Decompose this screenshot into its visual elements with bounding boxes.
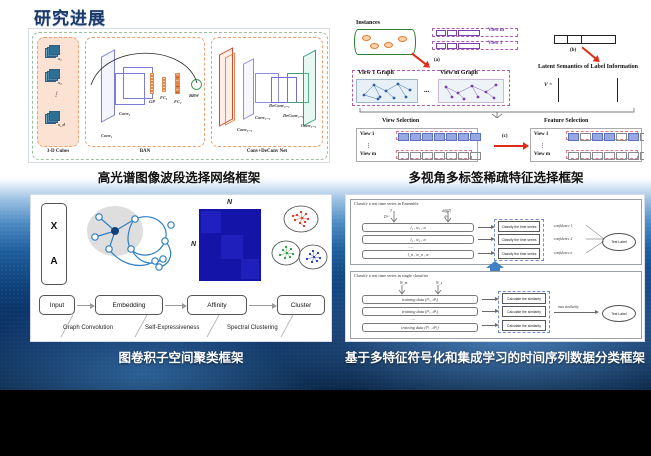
fig1-section-label: BAN bbox=[85, 149, 205, 154]
fig1-section-label: Conv+DeConv Net bbox=[211, 149, 323, 154]
fig2-selection-row-label: View m bbox=[534, 152, 550, 157]
fig4-training-row: training data (lᴺᵢ , dᴺᵢ) bbox=[362, 323, 478, 332]
fig2-selection-title: View Selection bbox=[382, 118, 419, 124]
fig1-conv2-label: Conv₂ bbox=[119, 111, 130, 116]
fig3-affinity-blocks bbox=[199, 209, 261, 281]
fig2-graph-title: View 1 Graph bbox=[358, 70, 394, 76]
fig4-ensemble-row: l_n , w_n , α bbox=[362, 250, 474, 259]
fig4-arrow-train-to-sim bbox=[482, 325, 496, 326]
fig4-confidence: confidence 2 bbox=[554, 237, 572, 241]
fig1-input-label: x₂ bbox=[58, 80, 62, 85]
fig1-section-label: 3-D Cubes bbox=[37, 149, 79, 154]
fig4-ensemble-row: l₂ , w₂ , α bbox=[362, 235, 474, 244]
page-title: 研究进展 bbox=[34, 4, 106, 29]
fig2-feature-cell bbox=[458, 30, 480, 36]
fig3-arrow-1 bbox=[77, 305, 91, 306]
fig2-cells-row-unselected bbox=[398, 152, 481, 160]
figure-1-caption: 高光谱图像波段选择网络框架 bbox=[28, 170, 330, 185]
fig3-input-matrix-box: X A bbox=[41, 203, 67, 285]
fig4-classifier: Classify the time series bbox=[498, 221, 540, 232]
fig3-cluster-illustration bbox=[271, 203, 329, 285]
fig4-arrow-row-to-classifier bbox=[478, 239, 492, 240]
fig2-instance-dot bbox=[362, 35, 371, 41]
fig1-brw-label: BRW bbox=[189, 93, 199, 98]
fig1-dec1-label: DeConv₃₋₁ bbox=[283, 113, 304, 119]
fig4-confidence-leaders bbox=[586, 223, 608, 257]
fig4-training-row: training data (l²ᵢ , d²ᵢ) bbox=[362, 307, 478, 316]
fig2-selection-row-label: View 1 bbox=[534, 132, 548, 137]
fig3-stage-input[interactable]: Input bbox=[39, 295, 75, 315]
fig4-similarity-calculator: Calculate the similarity bbox=[502, 306, 546, 317]
figure-graphconv-panel: X A bbox=[30, 194, 332, 342]
fig1-hsi-plate-orange bbox=[225, 52, 235, 125]
fig4-training-row: training data (l¹ᵢ , d¹ᵢ) bbox=[362, 295, 478, 304]
fig1-input-cube bbox=[45, 111, 58, 122]
fig1-conv1-label: Conv₁ bbox=[101, 133, 112, 138]
fig2-selection-title: Feature Selection bbox=[544, 118, 588, 124]
fig2-merge-bracket bbox=[358, 106, 638, 118]
fig3-arrow-3 bbox=[249, 305, 273, 306]
fig4-classifier: Classify the time series bbox=[498, 234, 540, 245]
figure-timeseries-panel: Classify a test time series in Ensemble … bbox=[345, 194, 645, 342]
fig2-feature-cell bbox=[436, 30, 446, 36]
fig4-single-output: Test Label bbox=[602, 305, 636, 322]
fig2-graph-viewm-edges bbox=[438, 79, 504, 103]
fig4-ensemble-rows-ellipsis: ...... bbox=[408, 245, 413, 249]
fig4-similarity-calculator: Calculate the similarity bbox=[502, 320, 546, 331]
fig3-stage-cluster[interactable]: Cluster bbox=[277, 295, 325, 315]
fig3-note-self-expressiveness: Self-Expressiveness bbox=[145, 325, 199, 331]
fig1-input-label: x₁ bbox=[58, 56, 62, 61]
fig2-cells-row-selected bbox=[398, 133, 481, 141]
fig2-arrow-to-graphs bbox=[411, 53, 426, 66]
fig4-ensemble-row: l₁ , w₁ , α bbox=[362, 223, 474, 232]
fig1-fc1-label: FC₁ bbox=[160, 95, 168, 100]
fig4-arrow-to-output bbox=[554, 312, 596, 313]
fig2-cells-row-unselected bbox=[568, 152, 644, 160]
fig2-arrow-selection bbox=[494, 145, 524, 147]
fig4-symbol-arrows bbox=[386, 211, 466, 223]
letterbox-black-bar bbox=[0, 390, 651, 456]
fig1-out-plate-green bbox=[303, 50, 316, 127]
fig3-stage-affinity[interactable]: Affinity bbox=[187, 295, 247, 315]
fig2-instance-dot bbox=[398, 36, 407, 42]
fig3-matrix-axis-top: N bbox=[227, 199, 232, 206]
fig1-input-ellipsis: ⋮ bbox=[53, 91, 59, 98]
fig4-ensemble-header: Classify a test time series in Ensemble bbox=[354, 201, 418, 206]
fig1-gp-label: GP bbox=[149, 99, 155, 104]
fig1-dec2-label: DeConv₃₋₂ bbox=[269, 103, 290, 109]
fig3-stage-embedding[interactable]: Embedding bbox=[95, 295, 163, 315]
fig2-view-m-label: View m bbox=[488, 28, 504, 33]
fig2-latent-matrix bbox=[558, 78, 618, 102]
fig4-arrow-row-to-classifier bbox=[478, 227, 492, 228]
figure-3-caption: 图卷积子空间聚类框架 bbox=[30, 350, 332, 365]
fig3-arrow-2 bbox=[165, 305, 183, 306]
fig4-arrow-train-to-sim bbox=[482, 299, 496, 300]
fig2-feature-cell bbox=[447, 30, 457, 36]
fig2-arrow-to-latent bbox=[581, 46, 596, 59]
fig1-skip-arcs bbox=[85, 41, 205, 87]
fig3-input-a: A bbox=[50, 256, 57, 267]
figure-2-caption: 多视角多标签稀疏特征选择框架 bbox=[348, 170, 644, 185]
fig1-enc2-label: Conv₃₋₂ bbox=[255, 115, 270, 121]
figure-hyperspectral-panel: x₁ x₂ ⋮ x_d Conv₁ Conv₂ GP FC₁ bbox=[28, 28, 330, 163]
fig4-single-header: Classify a test time series in single cl… bbox=[354, 273, 428, 278]
fig1-input-cube bbox=[45, 45, 58, 56]
fig2-fused-cell bbox=[554, 35, 568, 44]
fig2-feature-cell bbox=[436, 43, 446, 49]
fig2-selection-row-label: ⋮ bbox=[540, 143, 545, 149]
fig2-step-c-label: (c) bbox=[502, 134, 508, 139]
fig2-instance-dot bbox=[370, 43, 379, 49]
fig4-similarity-calculator: Calculate the similarity bbox=[502, 293, 546, 304]
fig2-graph-view1-edges bbox=[356, 79, 418, 103]
fig2-fused-cell bbox=[568, 35, 582, 44]
figure-multiview-panel: Instances View m View 1 (b) (a) View 1 G… bbox=[348, 18, 644, 166]
fig2-feature-cell bbox=[447, 43, 457, 49]
fig4-arrow-row-to-classifier bbox=[478, 253, 492, 254]
fig2-latent-title: Latent Semantics of Label Information bbox=[534, 64, 642, 71]
fig1-enc1-plate bbox=[243, 58, 254, 120]
figure-4-caption: 基于多特征符号化和集成学习的时间序列数据分类框架 bbox=[345, 350, 645, 365]
fig3-graph-illustration bbox=[79, 201, 185, 289]
fig4-confidence: confidence 1 bbox=[554, 224, 572, 228]
fig2-selection-row-label: View 1 bbox=[360, 132, 374, 137]
fig2-step-a-label: (a) bbox=[434, 58, 440, 63]
fig2-instance-dot bbox=[384, 42, 393, 48]
fig4-arrow-train-to-sim bbox=[482, 311, 496, 312]
fig4-classifier: Classify the time series bbox=[498, 248, 540, 259]
slide-canvas: 研究进展 x₁ x₂ ⋮ x_d Conv₁ Conv₂ GP bbox=[0, 0, 651, 390]
fig1-out-label: Conv₃₋₁ bbox=[301, 123, 316, 129]
fig4-confidence: confidence n bbox=[554, 251, 572, 255]
fig2-graphs-ellipsis: ... bbox=[424, 86, 429, 94]
fig3-note-graph-convolution: Graph Convolution bbox=[63, 325, 113, 331]
fig2-step-b-label: (b) bbox=[570, 48, 576, 53]
fig4-training-rows-ellipsis: ...... bbox=[410, 317, 415, 321]
fig1-fc2-label: FC₂ bbox=[174, 99, 182, 104]
fig1-enc1-label: Conv₃₋₁ bbox=[237, 127, 252, 133]
fig2-feature-cell bbox=[458, 43, 480, 49]
fig1-input-label: x_d bbox=[58, 122, 65, 127]
fig2-selection-row-label: View m bbox=[360, 152, 376, 157]
fig2-cells-row-mixed bbox=[568, 133, 644, 141]
fig3-note-spectral-clustering: Spectral Clustering bbox=[227, 325, 278, 331]
fig2-matrix-label: V = bbox=[544, 82, 552, 88]
fig2-graph-title: View m Graph bbox=[440, 70, 478, 76]
fig3-input-x: X bbox=[51, 221, 58, 232]
fig2-instances-label: Instances bbox=[356, 20, 380, 26]
fig4-single-symbol-arrows bbox=[398, 283, 448, 295]
fig2-selection-row-label: ⋮ bbox=[366, 143, 371, 149]
fig3-matrix-axis-left: N bbox=[191, 241, 196, 248]
fig4-max-similarity-note: max similarity bbox=[558, 305, 579, 309]
fig2-view-1-label: View 1 bbox=[488, 41, 502, 46]
fig1-input-cube bbox=[45, 69, 58, 80]
